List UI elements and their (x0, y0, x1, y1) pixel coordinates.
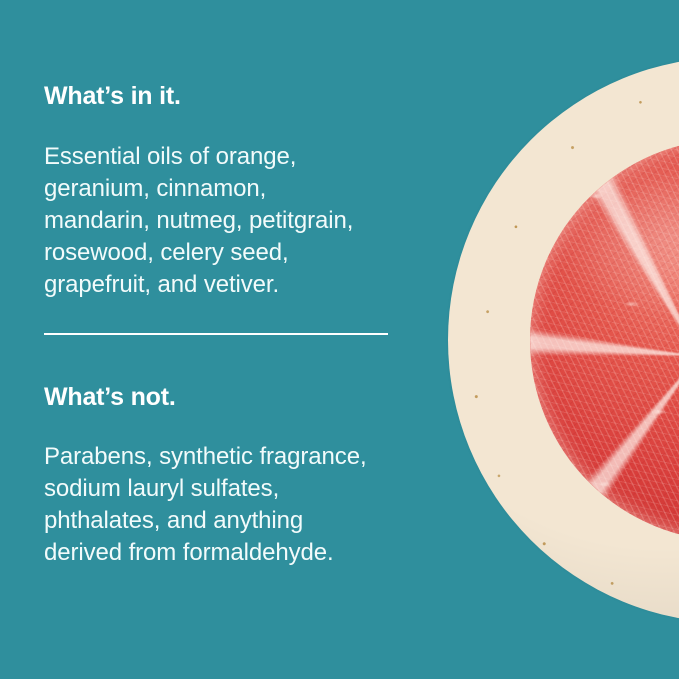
included-ingredients-list: Essential oils of orange, geranium, cinn… (44, 141, 353, 301)
list-item: derived from formaldehyde. (44, 537, 367, 569)
included-heading: What’s in it. (44, 81, 181, 111)
list-item: geranium, cinnamon, (44, 173, 353, 205)
list-item: sodium lauryl sulfates, (44, 473, 367, 505)
excluded-heading: What’s not. (44, 382, 176, 412)
list-item: Essential oils of orange, (44, 141, 353, 173)
list-item: rosewood, celery seed, (44, 237, 353, 269)
list-item: phthalates, and anything (44, 505, 367, 537)
grapefruit-flesh (530, 139, 679, 541)
product-ingredient-panel: What’s in it. Essential oils of orange, … (0, 0, 679, 679)
list-item: Parabens, synthetic fragrance, (44, 441, 367, 473)
list-item: grapefruit, and vetiver. (44, 269, 353, 301)
grapefruit-slice-image (448, 57, 679, 623)
list-item: mandarin, nutmeg, petitgrain, (44, 205, 353, 237)
excluded-ingredients-list: Parabens, synthetic fragrance, sodium la… (44, 441, 367, 569)
section-divider (44, 333, 388, 335)
